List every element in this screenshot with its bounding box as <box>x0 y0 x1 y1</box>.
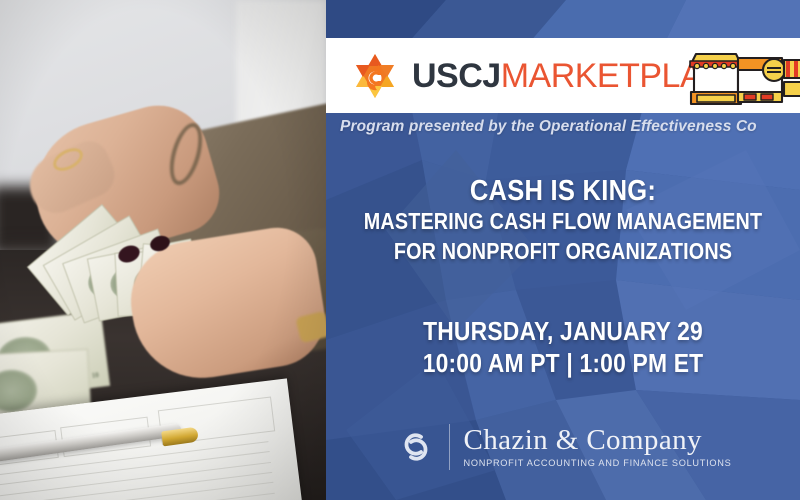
title-line-2: MASTERING CASH FLOW MANAGEMENT <box>359 207 767 236</box>
chazin-interlocking-s-icon <box>395 426 437 468</box>
logo-divider <box>449 424 450 470</box>
sponsor-tagline: NONPROFIT ACCOUNTING AND FINANCE SOLUTIO… <box>464 458 732 468</box>
webinar-schedule: THURSDAY, JANUARY 29 10:00 AM PT | 1:00 … <box>326 316 800 379</box>
title-line-1: CASH IS KING: <box>354 176 771 207</box>
promotional-banner: 10 10 <box>0 0 800 500</box>
sponsor-name: Chazin & Company <box>464 426 732 456</box>
market-stalls-illustration <box>688 44 800 108</box>
program-presenter-subtitle: Program presented by the Operational Eff… <box>340 118 800 136</box>
title-line-3: FOR NONPROFIT ORGANIZATIONS <box>359 237 767 266</box>
schedule-time: 10:00 AM PT | 1:00 PM ET <box>354 348 771 380</box>
stock-photo-counting-cash: 10 10 <box>0 0 326 500</box>
schedule-date: THURSDAY, JANUARY 29 <box>354 316 771 348</box>
uscj-brand-text: USCJ <box>412 57 501 95</box>
photo-vignette <box>0 0 326 500</box>
webinar-title: CASH IS KING: MASTERING CASH FLOW MANAGE… <box>326 176 800 266</box>
chazin-and-company-logo: Chazin & Company NONPROFIT ACCOUNTING AN… <box>326 424 800 470</box>
uscj-marketplace-logo-bar: USCJMARKETPLACE <box>326 38 800 113</box>
chazin-text-block: Chazin & Company NONPROFIT ACCOUNTING AN… <box>464 426 732 469</box>
uscj-star-of-david-flame-icon <box>350 51 400 101</box>
